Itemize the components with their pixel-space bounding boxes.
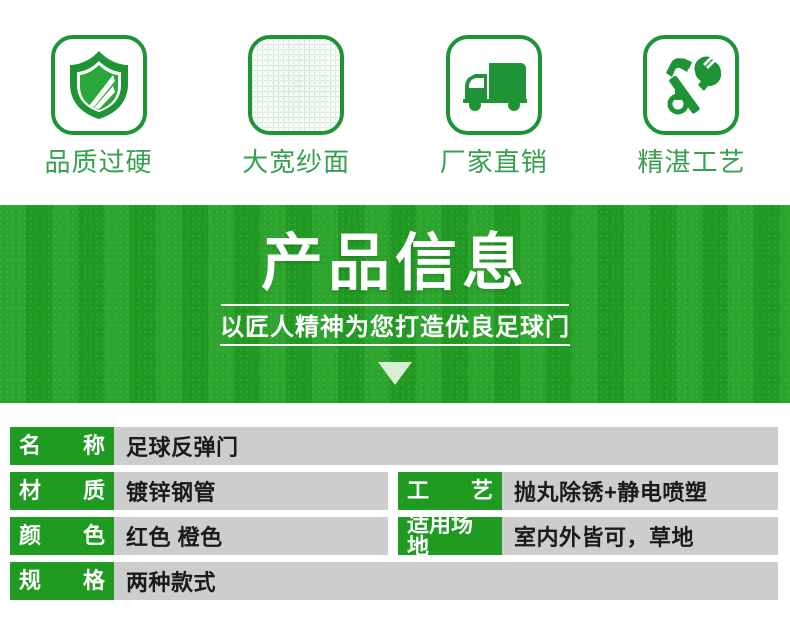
feature-item-wide-mesh[interactable]: 大宽纱面 — [198, 0, 395, 175]
feature-item-craftsmanship[interactable]: 精湛工艺 — [593, 0, 790, 175]
features-strip: 品质过硬 大宽纱面 — [0, 0, 790, 205]
spec-value-color: 红色 橙色 — [114, 517, 388, 555]
spec-label-char-a: 颜 — [19, 525, 41, 547]
table-row: 颜 色 红色 橙色 适用场地 室内外皆可，草地 — [0, 517, 790, 555]
table-row: 材 质 镀锌钢管 工 艺 抛丸除锈+静电喷塑 — [0, 472, 790, 510]
spec-label-char-b: 称 — [83, 435, 105, 457]
spec-label-char-b: 色 — [83, 525, 105, 547]
feature-item-quality[interactable]: 品质过硬 — [0, 0, 197, 175]
spec-label-char-a: 工 — [407, 480, 429, 502]
feature-label: 大宽纱面 — [242, 149, 350, 175]
spec-label-char-b: 质 — [83, 480, 105, 502]
banner-divider — [221, 304, 569, 306]
feature-label: 品质过硬 — [44, 149, 152, 175]
feature-item-factory-direct[interactable]: 厂家直销 — [395, 0, 592, 175]
delivery-truck-icon — [446, 35, 542, 135]
feature-label: 精湛工艺 — [637, 149, 745, 175]
spec-label-char-a: 名 — [19, 435, 41, 457]
shield-icon — [51, 35, 147, 135]
spec-table: 名 称 足球反弹门 材 质 镀锌钢管 工 艺 抛丸除锈+静电喷塑 颜 — [0, 403, 790, 600]
spec-cell-process: 工 艺 抛丸除锈+静电喷塑 — [398, 472, 778, 510]
spec-value-spec: 两种款式 — [114, 562, 778, 600]
hammer-wrench-icon — [643, 35, 739, 135]
table-row: 规 格 两种款式 — [0, 562, 790, 600]
down-triangle-icon — [378, 362, 412, 385]
spec-label-spec: 规 格 — [10, 562, 114, 600]
spec-cell-color: 颜 色 红色 橙色 — [10, 517, 388, 555]
spec-cell-venue: 适用场地 室内外皆可，草地 — [398, 517, 778, 555]
spec-label-color: 颜 色 — [10, 517, 114, 555]
spec-value-process: 抛丸除锈+静电喷塑 — [502, 472, 778, 510]
spec-label-material: 材 质 — [10, 472, 114, 510]
spec-value-venue: 室内外皆可，草地 — [502, 517, 778, 555]
spec-cell-material: 材 质 镀锌钢管 — [10, 472, 388, 510]
spec-value-name: 足球反弹门 — [114, 427, 778, 465]
product-info-banner: 产品信息 以匠人精神为您打造优良足球门 — [0, 205, 790, 403]
spec-cell-spec: 规 格 两种款式 — [10, 562, 778, 600]
feature-label: 厂家直销 — [440, 149, 548, 175]
spec-label-char-a: 规 — [19, 570, 41, 592]
table-row: 名 称 足球反弹门 — [0, 427, 790, 465]
spec-label-char-b: 格 — [83, 570, 105, 592]
banner-title: 产品信息 — [261, 231, 529, 296]
spec-label-name: 名 称 — [10, 427, 114, 465]
spec-cell-name: 名 称 足球反弹门 — [10, 427, 778, 465]
mesh-grid-icon — [248, 35, 344, 135]
spec-label-char-a: 材 — [19, 480, 41, 502]
spec-value-material: 镀锌钢管 — [114, 472, 388, 510]
banner-subtitle: 以匠人精神为您打造优良足球门 — [220, 315, 570, 346]
spec-label-char-b: 艺 — [471, 480, 493, 502]
spec-label-process: 工 艺 — [398, 472, 502, 510]
spec-label-venue: 适用场地 — [398, 517, 502, 555]
